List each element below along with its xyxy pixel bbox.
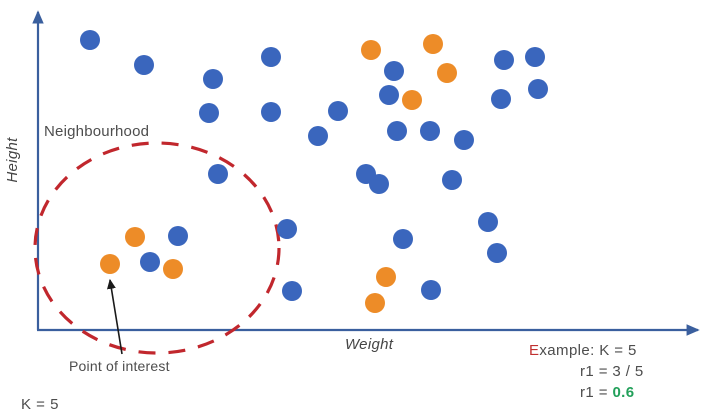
scatter-point: [277, 219, 297, 239]
scatter-point: [125, 227, 145, 247]
example-accent-letter: E: [529, 342, 539, 359]
neighbourhood-circle: [35, 143, 279, 353]
neighbourhood-label: Neighbourhood: [44, 123, 149, 140]
scatter-point: [387, 121, 407, 141]
scatter-point: [454, 130, 474, 150]
example-result-value: 0.6: [612, 384, 634, 401]
y-axis-label: Height: [4, 120, 21, 200]
scatter-point: [491, 89, 511, 109]
scatter-point: [393, 229, 413, 249]
example-line-result: r1 = 0.6: [529, 382, 644, 403]
scatter-point: [308, 126, 328, 146]
scatter-point: [487, 243, 507, 263]
scatter-point: [376, 267, 396, 287]
illustration-canvas: Height Weight Neighbourhood Point of int…: [0, 0, 712, 420]
scatter-point: [437, 63, 457, 83]
x-axis-label: Weight: [345, 336, 393, 353]
scatter-point: [423, 34, 443, 54]
data-points: [80, 30, 548, 313]
scatter-point: [203, 69, 223, 89]
scatter-point: [261, 102, 281, 122]
scatter-point: [369, 174, 389, 194]
scatter-point: [199, 103, 219, 123]
scatter-point: [261, 47, 281, 67]
scatter-point: [361, 40, 381, 60]
example-line-k: Example: K = 5: [529, 340, 644, 361]
example-line-k-text: xample: K = 5: [539, 342, 636, 359]
scatter-point: [140, 252, 160, 272]
scatter-point: [420, 121, 440, 141]
scatter-point: [379, 85, 399, 105]
scatter-point: [494, 50, 514, 70]
point-of-interest-label: Point of interest: [69, 358, 170, 374]
scatter-point: [402, 90, 422, 110]
scatter-point: [421, 280, 441, 300]
scatter-point: [208, 164, 228, 184]
scatter-point: [365, 293, 385, 313]
scatter-point: [528, 79, 548, 99]
scatter-point: [328, 101, 348, 121]
scatter-point: [163, 259, 183, 279]
scatter-point: [478, 212, 498, 232]
scatter-point: [100, 254, 120, 274]
scatter-point: [134, 55, 154, 75]
scatter-point: [442, 170, 462, 190]
example-line-ratio: r1 = 3 / 5: [529, 361, 644, 382]
scatter-point: [80, 30, 100, 50]
example-annotation-block: Example: K = 5 r1 = 3 / 5 r1 = 0.6: [529, 340, 644, 403]
k-value-label: K = 5: [21, 396, 59, 413]
scatter-point: [282, 281, 302, 301]
scatter-point: [168, 226, 188, 246]
scatter-point: [525, 47, 545, 67]
point-of-interest-arrow: [110, 280, 122, 354]
example-result-prefix: r1 =: [580, 384, 612, 401]
scatter-point: [384, 61, 404, 81]
